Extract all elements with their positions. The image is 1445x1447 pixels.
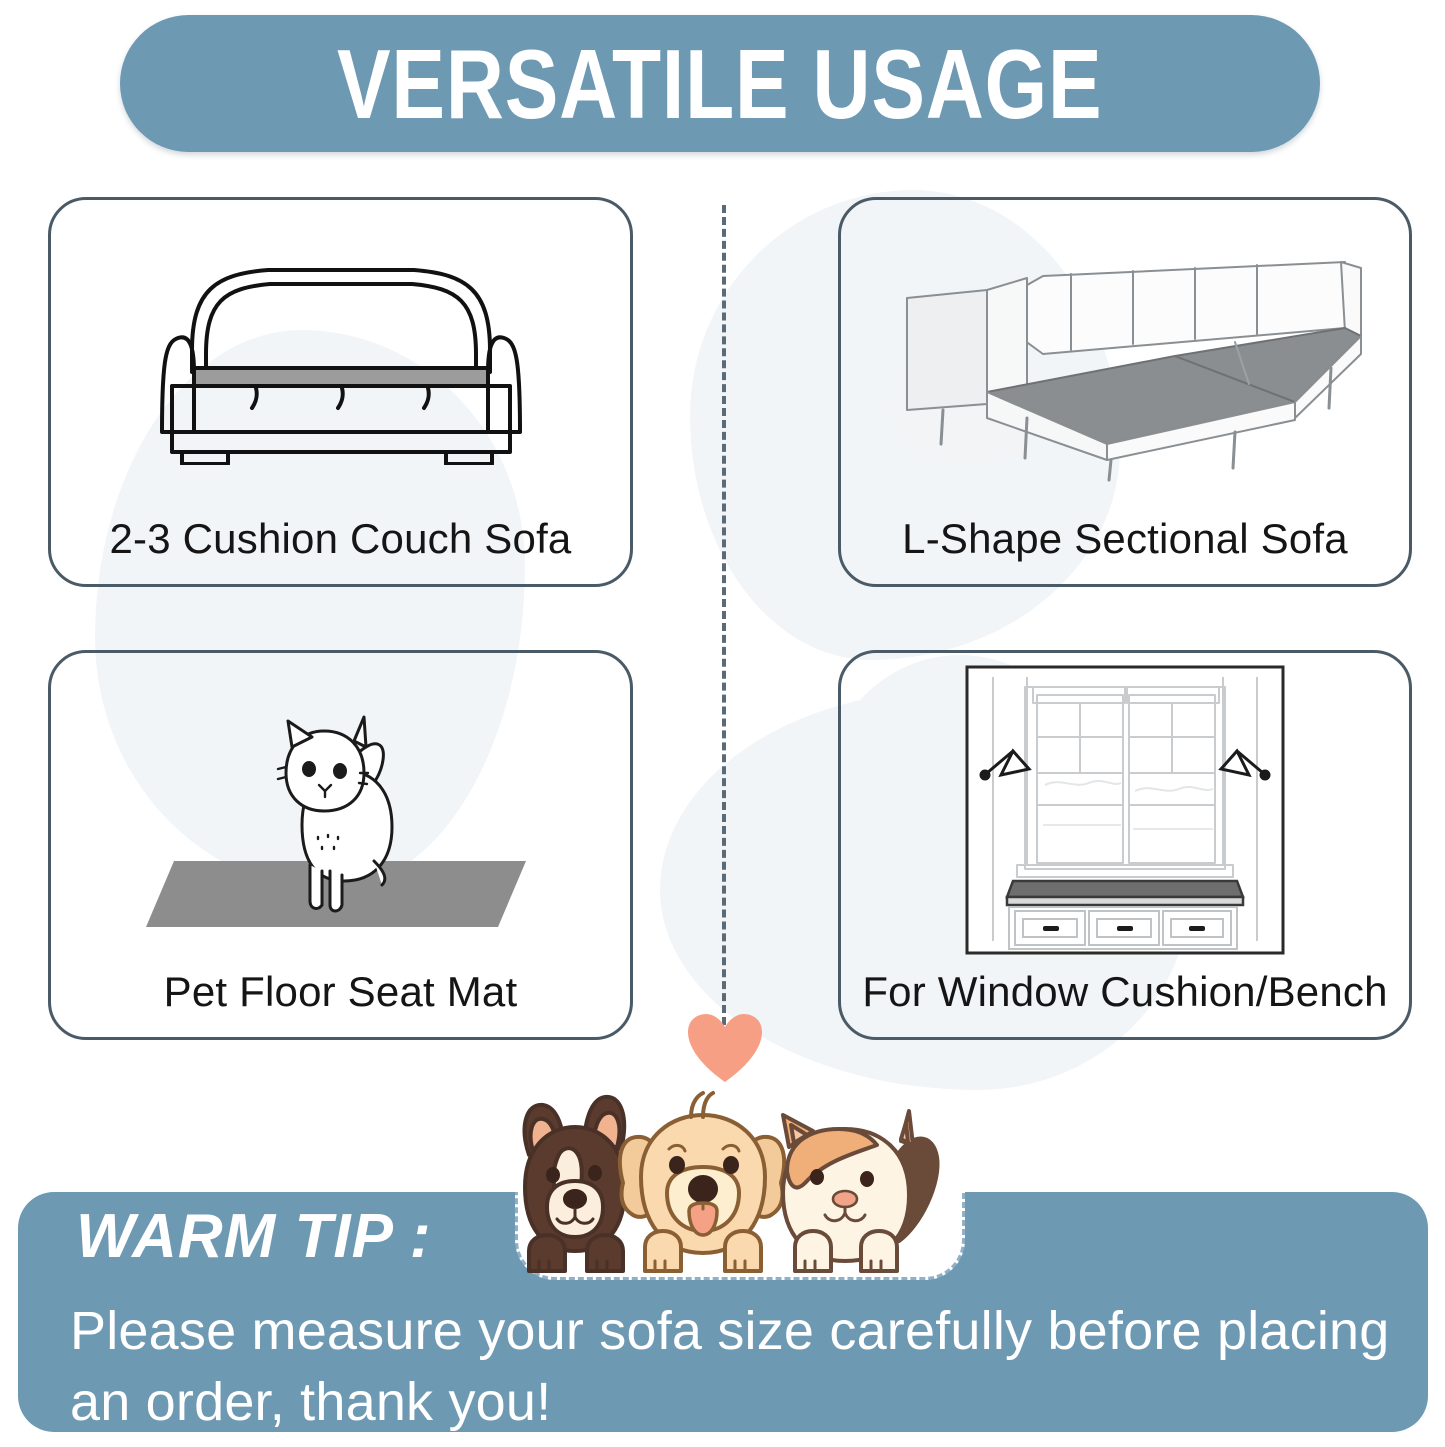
usage-card-pet-floor-seat-mat[interactable]: Pet Floor Seat Mat xyxy=(48,650,633,1040)
vertical-dashed-divider xyxy=(722,205,726,1025)
header-badge: VERSATILE USAGE xyxy=(120,15,1320,152)
usage-card-label: For Window Cushion/Bench xyxy=(841,969,1409,1037)
pets-group-icon xyxy=(495,1075,950,1290)
sectional-sofa-icon xyxy=(841,214,1409,500)
window-bench-icon xyxy=(841,667,1409,953)
usage-card-cushion-couch-sofa[interactable]: 2-3 Cushion Couch Sofa xyxy=(48,197,633,587)
usage-card-window-cushion-bench[interactable]: For Window Cushion/Bench xyxy=(838,650,1412,1040)
page-title: VERSATILE USAGE xyxy=(337,35,1102,133)
warm-tip-body: Please measure your sofa size carefully … xyxy=(70,1296,1390,1432)
usage-card-label: 2-3 Cushion Couch Sofa xyxy=(51,516,630,584)
warm-tip-title: WARM TIP : xyxy=(76,1206,432,1268)
cat-on-mat-icon xyxy=(51,667,630,953)
couch-sofa-icon xyxy=(51,214,630,500)
usage-card-label: Pet Floor Seat Mat xyxy=(51,969,630,1037)
usage-card-label: L-Shape Sectional Sofa xyxy=(841,516,1409,584)
heart-icon xyxy=(686,1012,764,1084)
usage-card-l-shape-sectional-sofa[interactable]: L-Shape Sectional Sofa xyxy=(838,197,1412,587)
